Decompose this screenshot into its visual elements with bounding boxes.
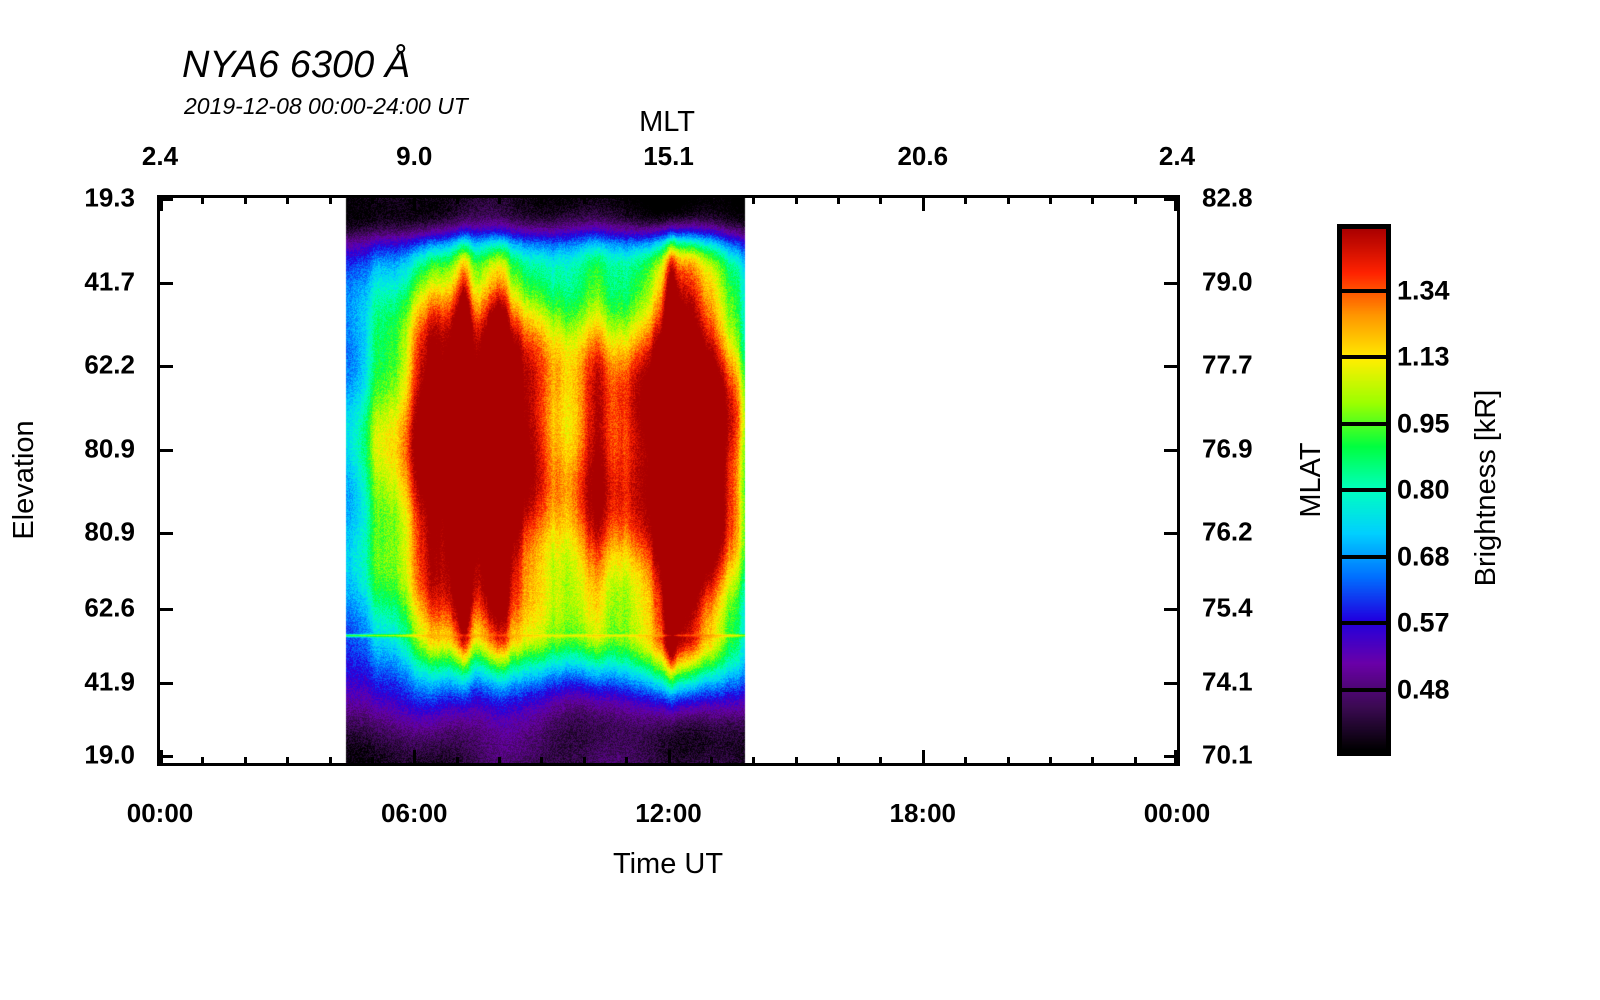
elevation-tick-label: 19.0 bbox=[0, 739, 135, 770]
colorbar-separator bbox=[1337, 289, 1391, 293]
top-tick bbox=[625, 195, 628, 204]
left-tick bbox=[157, 198, 173, 201]
bottom-tick bbox=[371, 757, 374, 766]
right-tick bbox=[1164, 198, 1180, 201]
bottom-tick bbox=[625, 757, 628, 766]
top-tick bbox=[456, 195, 459, 204]
top-tick bbox=[1007, 195, 1010, 204]
bottom-tick bbox=[1007, 757, 1010, 766]
bottom-tick bbox=[201, 757, 204, 766]
top-tick bbox=[371, 195, 374, 204]
keogram-image bbox=[160, 198, 1177, 763]
colorbar-separator bbox=[1337, 621, 1391, 625]
mlat-tick-label: 74.1 bbox=[1202, 667, 1253, 698]
colorbar-separator bbox=[1337, 688, 1391, 692]
top-tick bbox=[540, 195, 543, 204]
time-tick-label: 00:00 bbox=[1144, 798, 1211, 829]
right-tick bbox=[1164, 282, 1180, 285]
mlat-tick-label: 70.1 bbox=[1202, 739, 1253, 770]
page-subtitle: 2019-12-08 00:00-24:00 UT bbox=[184, 93, 468, 120]
colorbar-tick-label: 1.13 bbox=[1397, 342, 1450, 373]
top-tick bbox=[413, 195, 416, 211]
bottom-tick bbox=[540, 757, 543, 766]
top-tick bbox=[795, 195, 798, 204]
top-tick bbox=[286, 195, 289, 204]
elevation-tick-label: 62.2 bbox=[0, 350, 135, 381]
bottom-tick bbox=[795, 757, 798, 766]
left-tick bbox=[157, 755, 173, 758]
right-axis-title: MLAT bbox=[1295, 442, 1328, 517]
mlat-tick-label: 79.0 bbox=[1202, 266, 1253, 297]
top-tick bbox=[583, 195, 586, 204]
bottom-tick bbox=[244, 757, 247, 766]
mlat-tick-label: 77.7 bbox=[1202, 350, 1253, 381]
colorbar-tick-label: 0.95 bbox=[1397, 408, 1450, 439]
top-tick bbox=[710, 195, 713, 204]
bottom-tick bbox=[1049, 757, 1052, 766]
right-tick bbox=[1164, 755, 1180, 758]
left-tick bbox=[157, 365, 173, 368]
top-tick bbox=[329, 195, 332, 204]
elevation-tick-label: 80.9 bbox=[0, 433, 135, 464]
mlt-tick-label: 15.1 bbox=[643, 141, 694, 172]
colorbar-tick-label: 0.80 bbox=[1397, 475, 1450, 506]
colorbar-tick-label: 0.48 bbox=[1397, 674, 1450, 705]
colorbar-title: Brightness [kR] bbox=[1470, 390, 1503, 587]
time-tick-label: 12:00 bbox=[635, 798, 702, 829]
bottom-tick bbox=[922, 750, 925, 766]
elevation-tick-label: 41.7 bbox=[0, 266, 135, 297]
bottom-tick bbox=[329, 757, 332, 766]
bottom-tick bbox=[583, 757, 586, 766]
top-tick bbox=[1091, 195, 1094, 204]
top-tick bbox=[837, 195, 840, 204]
top-tick bbox=[498, 195, 501, 204]
top-tick bbox=[668, 195, 671, 211]
left-tick bbox=[157, 532, 173, 535]
top-tick bbox=[1049, 195, 1052, 204]
keogram-plot-area bbox=[157, 195, 1180, 766]
top-tick bbox=[752, 195, 755, 204]
mlat-tick-label: 82.8 bbox=[1202, 183, 1253, 214]
right-tick bbox=[1164, 608, 1180, 611]
colorbar-separator bbox=[1337, 555, 1391, 559]
mlat-tick-label: 76.2 bbox=[1202, 517, 1253, 548]
bottom-tick bbox=[1091, 757, 1094, 766]
right-tick bbox=[1164, 532, 1180, 535]
top-tick bbox=[879, 195, 882, 204]
left-tick bbox=[157, 282, 173, 285]
left-tick bbox=[157, 682, 173, 685]
top-tick bbox=[201, 195, 204, 204]
elevation-tick-label: 41.9 bbox=[0, 667, 135, 698]
colorbar-tick-label: 0.68 bbox=[1397, 541, 1450, 572]
bottom-tick bbox=[286, 757, 289, 766]
mlat-tick-label: 75.4 bbox=[1202, 592, 1253, 623]
bottom-tick bbox=[668, 750, 671, 766]
mlat-tick-label: 76.9 bbox=[1202, 433, 1253, 464]
colorbar-separator bbox=[1337, 422, 1391, 426]
colorbar-tick-label: 0.57 bbox=[1397, 608, 1450, 639]
right-tick bbox=[1164, 365, 1180, 368]
right-tick bbox=[1164, 449, 1180, 452]
bottom-tick bbox=[1174, 750, 1177, 766]
mlt-tick-label: 2.4 bbox=[1159, 141, 1195, 172]
bottom-tick bbox=[964, 757, 967, 766]
colorbar-separator bbox=[1337, 488, 1391, 492]
colorbar-tick-label: 1.34 bbox=[1397, 275, 1450, 306]
bottom-tick bbox=[879, 757, 882, 766]
mlt-tick-label: 2.4 bbox=[142, 141, 178, 172]
elevation-tick-label: 62.6 bbox=[0, 592, 135, 623]
colorbar-separator bbox=[1337, 355, 1391, 359]
top-tick bbox=[1134, 195, 1137, 204]
left-tick bbox=[157, 608, 173, 611]
bottom-tick bbox=[456, 757, 459, 766]
mlt-tick-label: 20.6 bbox=[897, 141, 948, 172]
elevation-tick-label: 80.9 bbox=[0, 517, 135, 548]
bottom-tick bbox=[837, 757, 840, 766]
left-tick bbox=[157, 449, 173, 452]
page-title: NYA6 6300 Å bbox=[182, 44, 410, 87]
bottom-axis-title: Time UT bbox=[613, 848, 723, 881]
top-tick bbox=[964, 195, 967, 204]
colorbar: 1.341.130.950.800.680.570.48 bbox=[1337, 224, 1391, 756]
top-tick bbox=[244, 195, 247, 204]
bottom-tick bbox=[1134, 757, 1137, 766]
time-tick-label: 18:00 bbox=[890, 798, 957, 829]
bottom-tick bbox=[498, 757, 501, 766]
time-tick-label: 06:00 bbox=[381, 798, 448, 829]
top-axis-title: MLT bbox=[639, 106, 695, 139]
bottom-tick bbox=[710, 757, 713, 766]
bottom-tick bbox=[160, 750, 163, 766]
mlt-tick-label: 9.0 bbox=[396, 141, 432, 172]
top-tick bbox=[922, 195, 925, 211]
bottom-tick bbox=[413, 750, 416, 766]
elevation-tick-label: 19.3 bbox=[0, 183, 135, 214]
time-tick-label: 00:00 bbox=[127, 798, 194, 829]
right-tick bbox=[1164, 682, 1180, 685]
bottom-tick bbox=[752, 757, 755, 766]
